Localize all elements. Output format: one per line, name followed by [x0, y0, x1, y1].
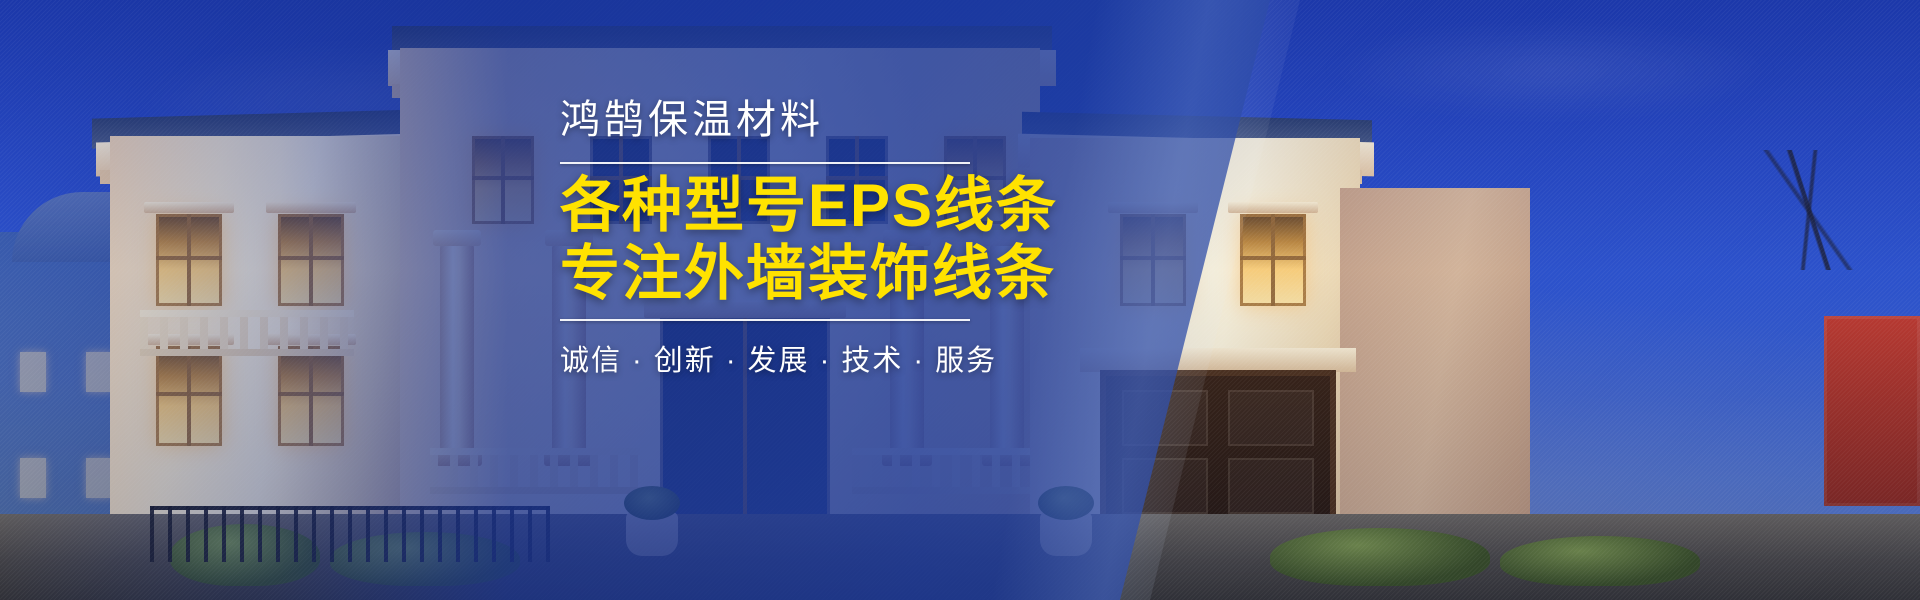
divider-top: [560, 162, 970, 164]
headline-line-2: 专注外墙装饰线条: [560, 242, 1030, 306]
tagline: 诚信 · 创新 · 发展 · 技术 · 服务: [560, 337, 1030, 379]
divider-bottom: [560, 319, 970, 321]
brand-name: 鸿鹄保温材料: [560, 96, 1030, 144]
banner-text-block: 鸿鹄保温材料 各种型号EPS线条 专注外墙装饰线条 诚信 · 创新 · 发展 ·…: [560, 96, 1030, 379]
headline-line-1: 各种型号EPS线条: [560, 174, 1030, 238]
hero-banner: 鸿鹄保温材料 各种型号EPS线条 专注外墙装饰线条 诚信 · 创新 · 发展 ·…: [0, 0, 1920, 600]
